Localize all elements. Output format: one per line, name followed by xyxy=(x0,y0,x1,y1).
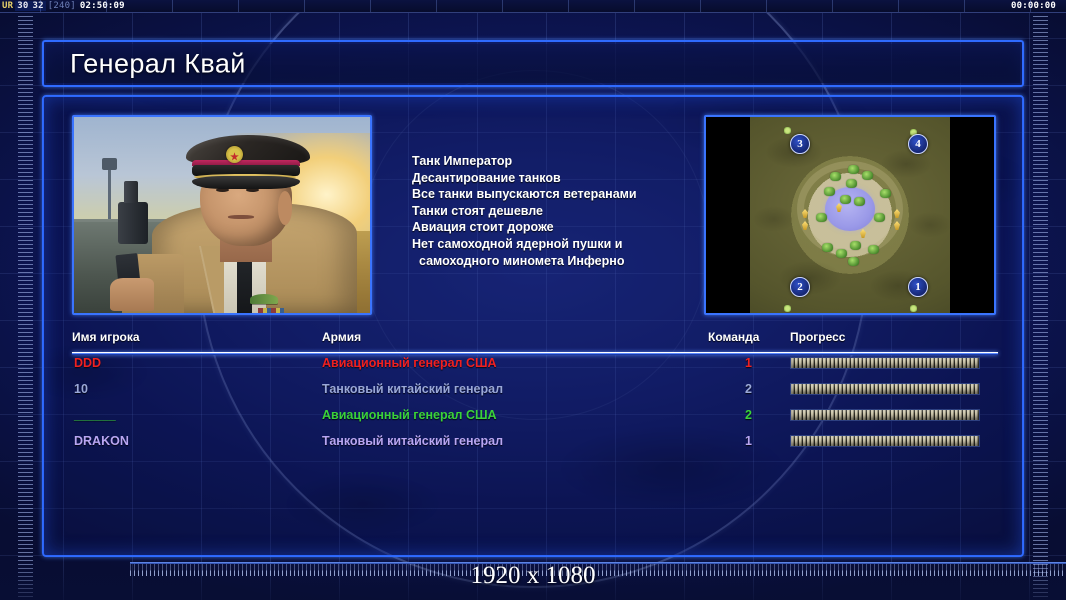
player-army: Танковый китайский генерал xyxy=(322,382,503,396)
officer-cap-brim xyxy=(192,176,300,189)
minimap-tree xyxy=(862,171,873,180)
officer-hand xyxy=(110,278,154,311)
player-name: DDD xyxy=(74,356,101,370)
session-clock: 02:50:09 xyxy=(78,1,127,11)
status-top-bar: UR 30 32 [240] 02:50:09 00:00:00 xyxy=(0,0,1066,13)
minimap-image: 3 4 2 1 xyxy=(750,117,950,313)
minimap-tree xyxy=(824,187,835,196)
ruler-left xyxy=(18,0,33,600)
general-description: Танк Император Десантирование танков Все… xyxy=(412,153,712,269)
description-line-2: Десантирование танков xyxy=(412,170,712,187)
description-line-7: самоходного миномета Инферно xyxy=(412,253,712,270)
table-row[interactable]: DDD Авиационный генерал США 1 xyxy=(72,354,998,378)
column-header-name: Имя игрока xyxy=(72,330,140,344)
pistol-barrel xyxy=(124,181,138,203)
player-table-header: Имя игрока Армия Команда Прогресс xyxy=(72,330,998,352)
minimap-tree xyxy=(840,195,851,204)
ur-value-1: 30 xyxy=(15,1,30,11)
minimap-start-position-2[interactable]: 2 xyxy=(790,277,810,297)
description-line-3: Все танки выпускаются ветеранами xyxy=(412,186,712,203)
general-portrait xyxy=(74,117,370,313)
description-line-5: Авиация стоит дороже xyxy=(412,219,712,236)
pistol-slide xyxy=(118,202,148,244)
page-title: Генерал Квай xyxy=(70,48,246,79)
portrait-pole xyxy=(108,160,111,227)
player-progress-bar xyxy=(790,357,980,369)
topbar-tick-grid xyxy=(0,0,1066,12)
minimap-tree xyxy=(880,189,891,198)
minimap-tree xyxy=(846,179,857,188)
column-header-army: Армия xyxy=(322,330,361,344)
minimap-tree xyxy=(822,243,833,252)
progress-fill xyxy=(791,358,979,368)
minimap-tree xyxy=(848,165,859,174)
minimap-corner-prop xyxy=(784,305,791,312)
general-portrait-frame xyxy=(72,115,372,315)
player-army: Авиационный генерал США xyxy=(322,408,497,422)
column-header-team: Команда xyxy=(708,330,759,344)
progress-fill xyxy=(791,436,979,446)
ur-value-2: 32 xyxy=(31,1,46,11)
minimap-tree xyxy=(836,249,847,258)
recording-clock: 00:00:00 xyxy=(1011,1,1066,11)
minimap-tree xyxy=(854,197,865,206)
description-line-1: Танк Император xyxy=(412,153,712,170)
player-name: 10 xyxy=(74,382,88,396)
officer-ear xyxy=(278,191,292,224)
minimap-tree xyxy=(830,172,841,181)
minimap-frame[interactable]: 3 4 2 1 xyxy=(704,115,996,315)
player-army: Танковый китайский генерал xyxy=(322,434,503,448)
minimap-start-position-3[interactable]: 3 xyxy=(790,134,810,154)
player-progress-bar xyxy=(790,383,980,395)
table-row[interactable]: ______ Авиационный генерал США 2 xyxy=(72,406,998,430)
ur-bracket: [240] xyxy=(46,1,78,11)
description-line-4: Танки стоят дешевле xyxy=(412,203,712,220)
player-name: DRAKON xyxy=(74,434,129,448)
progress-fill xyxy=(791,384,979,394)
minimap-start-position-1[interactable]: 1 xyxy=(908,277,928,297)
minimap-corner-prop xyxy=(784,127,791,134)
player-army: Авиационный генерал США xyxy=(322,356,497,370)
table-row[interactable]: DRAKON Танковый китайский генерал 1 xyxy=(72,432,998,456)
minimap-tree xyxy=(868,245,879,254)
officer-tie xyxy=(237,256,252,313)
officer-medal xyxy=(250,294,278,304)
title-panel: Генерал Квай xyxy=(42,40,1024,87)
minimap-tree xyxy=(850,241,861,250)
portrait-pole-head xyxy=(102,158,117,170)
main-panel: Танк Император Десантирование танков Все… xyxy=(42,95,1024,557)
minimap-corner-prop xyxy=(910,305,917,312)
player-team: 2 xyxy=(732,408,752,422)
ur-label: UR xyxy=(0,1,15,11)
officer-ribbons xyxy=(258,308,284,313)
minimap-start-position-4[interactable]: 4 xyxy=(908,134,928,154)
player-team: 1 xyxy=(732,434,752,448)
player-progress-bar xyxy=(790,435,980,447)
column-header-progress: Прогресс xyxy=(790,330,845,344)
progress-fill xyxy=(791,410,979,420)
game-screen: UR 30 32 [240] 02:50:09 00:00:00 Генерал… xyxy=(0,0,1066,600)
minimap-tree xyxy=(848,257,859,266)
table-row[interactable]: 10 Танковый китайский генерал 2 xyxy=(72,380,998,404)
description-line-6: Нет самоходной ядерной пушки и xyxy=(412,236,712,253)
resolution-label: 1920 x 1080 xyxy=(0,562,1066,590)
player-progress-bar xyxy=(790,409,980,421)
player-name: ______ xyxy=(74,408,116,422)
player-table: Имя игрока Армия Команда Прогресс DDD Ав… xyxy=(72,330,998,535)
minimap-tree xyxy=(816,213,827,222)
minimap-tree xyxy=(874,213,885,222)
officer-mouth xyxy=(228,215,254,219)
player-team: 1 xyxy=(732,356,752,370)
ruler-right xyxy=(1033,0,1048,600)
player-team: 2 xyxy=(732,382,752,396)
